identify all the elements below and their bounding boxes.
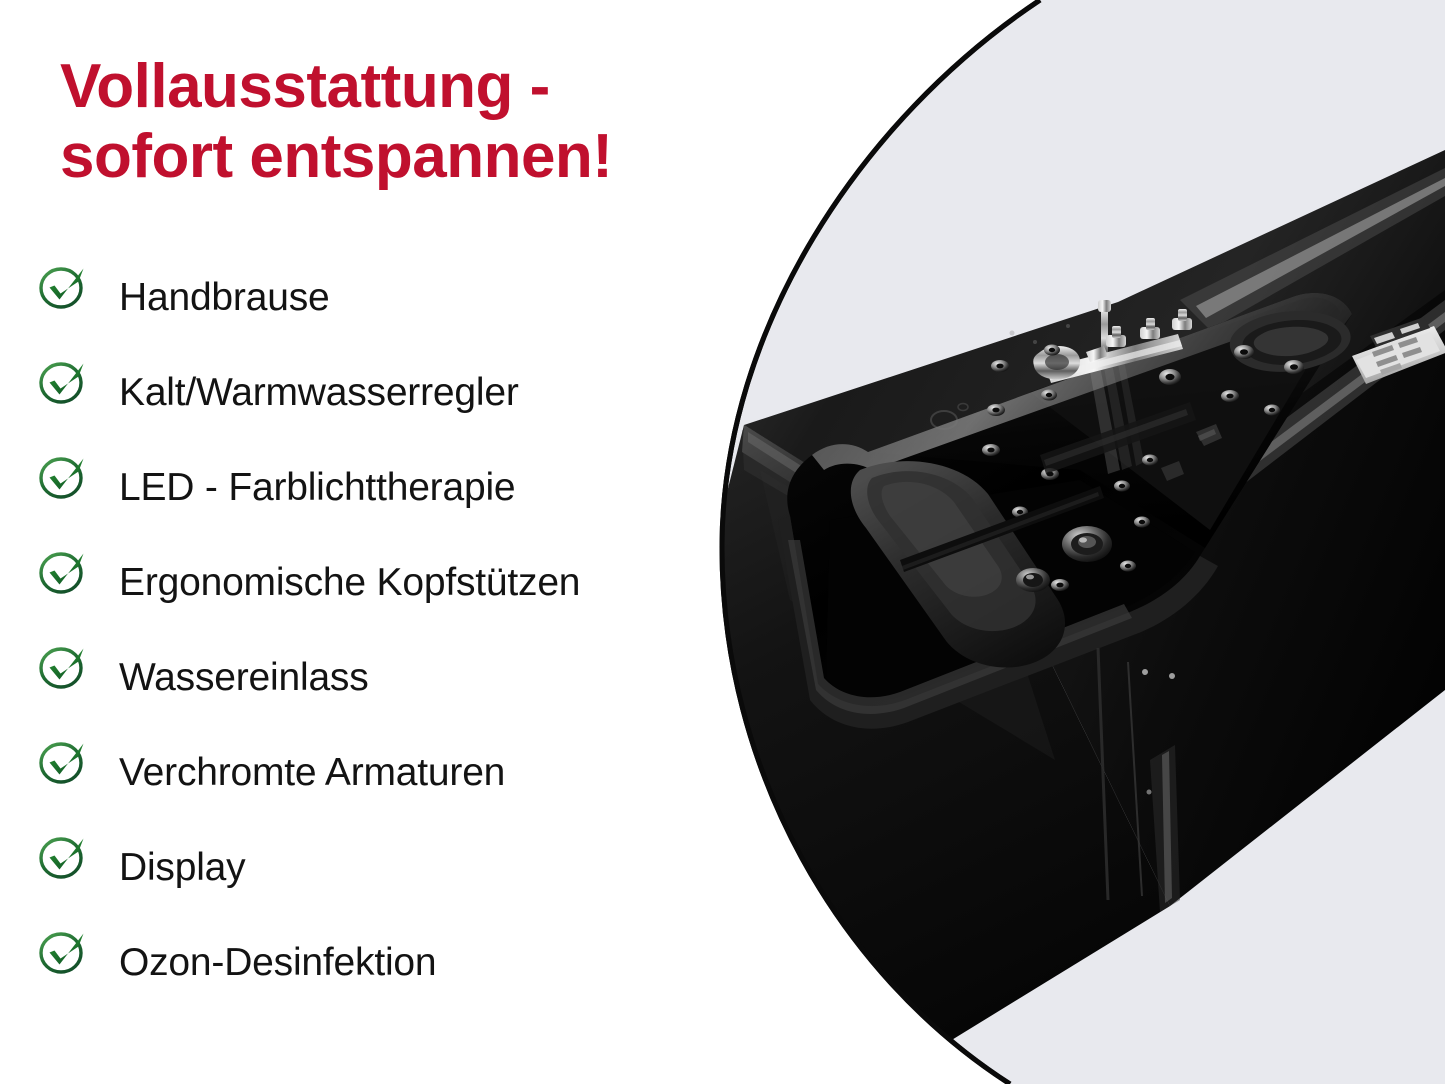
check-circle-icon	[37, 452, 87, 502]
check-circle-icon	[37, 832, 87, 882]
list-item-label: Verchromte Armaturen	[119, 751, 505, 795]
list-item-label: Wassereinlass	[119, 656, 369, 700]
list-item: Ozon-Desinfektion	[0, 915, 720, 1010]
list-item-label: Kalt/Warmwasserregler	[119, 371, 519, 415]
check-circle-icon	[37, 927, 87, 977]
list-item-label: Ergonomische Kopfstützen	[119, 561, 580, 605]
rotary-control-knob	[1062, 526, 1112, 562]
list-item-label: LED - Farblichttherapie	[119, 466, 515, 510]
page-title: Vollausstattung - sofort entspannen!	[60, 52, 760, 192]
bathtub-illustration	[720, 150, 1445, 1084]
check-circle-icon	[37, 357, 87, 407]
hydro-jets	[982, 345, 1304, 592]
list-item: Ergonomische Kopfstützen	[0, 535, 720, 630]
feature-list: Handbrause Kalt/Warmwasserregler	[0, 250, 720, 1010]
list-item: Handbrause	[0, 250, 720, 345]
promo-feature-card: Vollausstattung - sofort entspannen!	[0, 0, 1445, 1084]
list-item: Verchromte Armaturen	[0, 725, 720, 820]
list-item-label: Display	[119, 846, 245, 890]
list-item: LED - Farblichttherapie	[0, 440, 720, 535]
left-content-column: Vollausstattung - sofort entspannen!	[0, 0, 720, 1084]
control-display-panel	[1352, 317, 1445, 384]
list-item: Kalt/Warmwasserregler	[0, 345, 720, 440]
list-item-label: Handbrause	[119, 276, 329, 320]
check-circle-icon	[37, 262, 87, 312]
panel-shape	[722, 0, 1445, 1084]
list-item: Wassereinlass	[0, 630, 720, 725]
check-circle-icon	[37, 547, 87, 597]
secondary-knob	[1016, 568, 1050, 592]
check-circle-icon	[37, 737, 87, 787]
list-item: Display	[0, 820, 720, 915]
check-circle-icon	[37, 642, 87, 692]
list-item-label: Ozon-Desinfektion	[119, 941, 436, 985]
